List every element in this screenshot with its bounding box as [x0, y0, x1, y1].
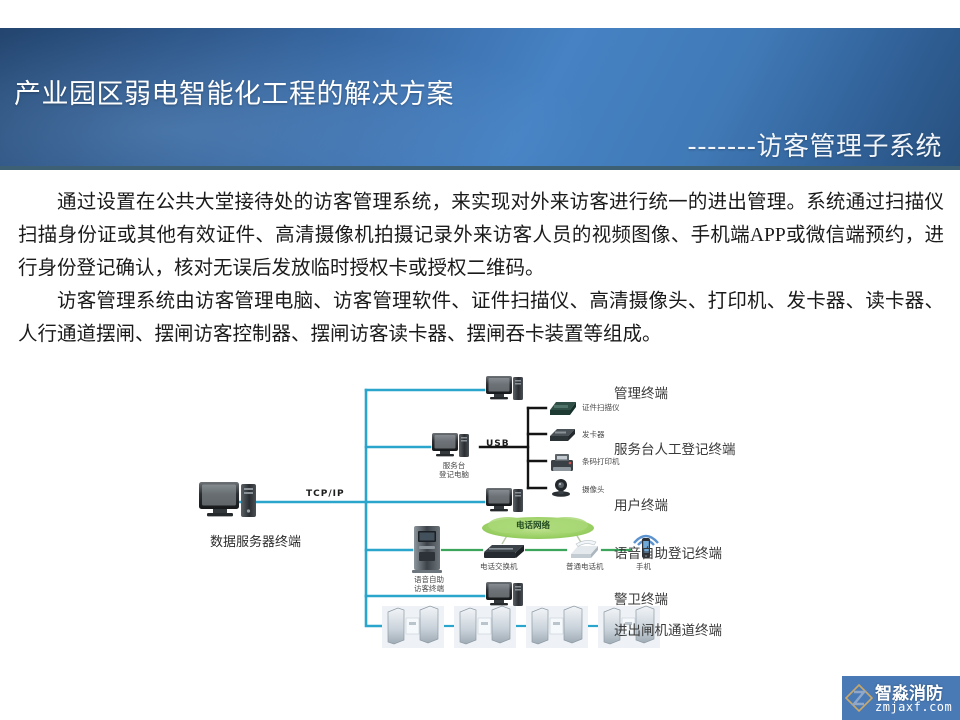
right-label-frontdesk: 服务台人工登记终端: [614, 438, 736, 458]
usb-device-label: 证件扫描仪: [582, 403, 620, 412]
tcpip-link-label: TCP/IP: [306, 489, 345, 499]
watermark-url: zmjaxf.com: [875, 700, 952, 714]
telephone-network-cloud-label: 电话网络: [516, 521, 550, 530]
telephone-label: 普通电话机: [566, 562, 604, 571]
paragraph-components: 访客管理系统由访客管理电脑、访客管理软件、证件扫描仪、高清摄像头、打印机、发卡器…: [18, 285, 944, 351]
paragraph-overview: 通过设置在公共大堂接待处的访客管理系统，来实现对外来访客进行统一的进出管理。系统…: [18, 186, 944, 285]
system-architecture-diagram: TCP/IP 数据服务器终端 服务台登记电脑 USB 证件扫描仪 发卡器 条码打…: [190, 368, 810, 654]
pbx-label: 电话交换机: [480, 562, 518, 571]
frontdesk-pc-label: 服务台登记电脑: [433, 461, 475, 479]
usb-device-label: 摄像头: [582, 485, 605, 494]
pbx-icon: [484, 545, 524, 558]
right-label-admin: 管理终端: [614, 382, 668, 402]
page-subtitle: -------访客管理子系统: [687, 126, 942, 163]
gate-unit: [454, 606, 516, 648]
printer-icon: [551, 454, 573, 471]
diagram-canvas: [190, 368, 810, 654]
brand-diamond-icon: [845, 684, 873, 712]
site-watermark: 智淼消防 zmjaxf.com: [842, 676, 960, 720]
data-server-terminal-icon: [199, 482, 256, 517]
gate-unit: [382, 606, 444, 648]
card-issuer-icon: [550, 429, 575, 441]
telephone-icon: [571, 540, 598, 558]
camera-icon: [552, 479, 570, 497]
right-label-guard: 警卫终端: [614, 588, 668, 608]
guard-terminal-icon: [486, 582, 523, 606]
usb-device-label: 发卡器: [582, 430, 605, 439]
scanner-icon: [550, 402, 576, 415]
frontdesk-pc-icon: [432, 433, 469, 457]
voice-kiosk-label: 语音自助访客终端: [408, 575, 450, 593]
right-label-gate: 进出闸机通道终端: [614, 619, 722, 639]
body-text-block: 通过设置在公共大堂接待处的访客管理系统，来实现对外来访客进行统一的进出管理。系统…: [18, 186, 944, 351]
right-label-user: 用户终端: [614, 494, 668, 514]
page-title: 产业园区弱电智能化工程的解决方案: [14, 72, 454, 111]
usb-device-label: 条码打印机: [582, 457, 620, 466]
voice-kiosk-icon: [412, 526, 442, 573]
user-terminal-icon: [486, 488, 523, 512]
slide-canvas: 产业园区弱电智能化工程的解决方案 -------访客管理子系统 通过设置在公共大…: [0, 0, 960, 720]
mobile-phone-label: 手机: [636, 562, 651, 571]
usb-bus-label: USB: [486, 439, 510, 449]
data-server-label: 数据服务器终端: [210, 531, 301, 550]
gate-unit: [526, 606, 588, 648]
slide-header-banner: 产业园区弱电智能化工程的解决方案 -------访客管理子系统: [0, 28, 960, 170]
admin-terminal-icon: [486, 376, 523, 400]
right-label-voice: 语音自助登记终端: [614, 542, 722, 562]
